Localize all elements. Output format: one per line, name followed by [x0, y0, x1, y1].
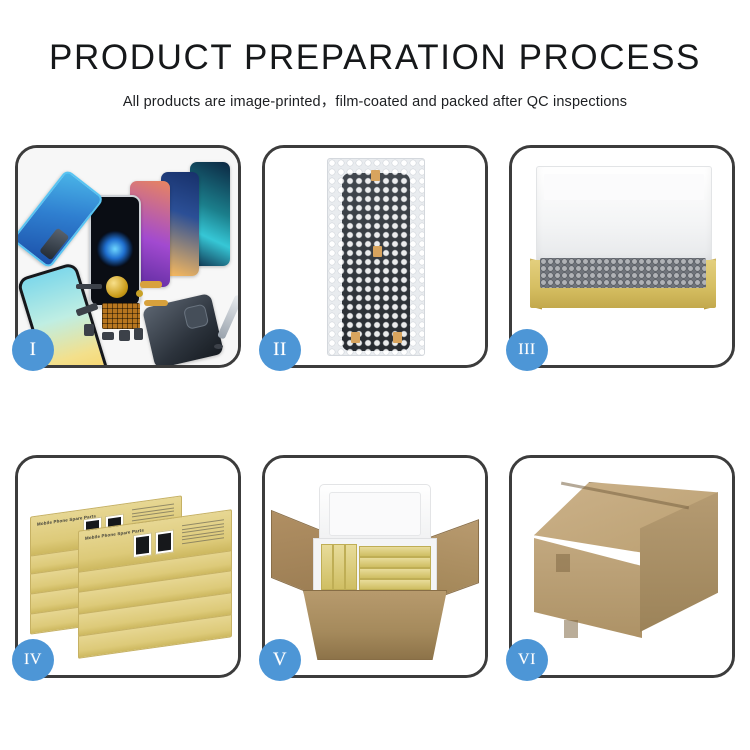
boxed-part-4: [359, 546, 431, 557]
step-1-image: [18, 148, 238, 365]
process-grid: I II III: [0, 145, 750, 678]
carton-tape-tab-bottom: [564, 620, 578, 638]
box-window-right-2: [155, 529, 174, 555]
screw-component: [136, 290, 143, 297]
earpiece-component: [76, 284, 102, 289]
step-badge-4: IV: [12, 639, 54, 681]
step-badge-6: VI: [506, 639, 548, 681]
box-stack: Mobile Phone Spare Parts Mobile Phone Sp…: [24, 472, 234, 666]
page-title: PRODUCT PREPARATION PROCESS: [0, 38, 750, 78]
step-badge-1: I: [12, 329, 54, 371]
boxed-part-6: [359, 568, 431, 579]
page-header: PRODUCT PREPARATION PROCESS All products…: [0, 0, 750, 111]
page-subtitle: All products are image-printed，film-coat…: [0, 90, 750, 111]
process-step-card-1[interactable]: I: [15, 145, 241, 368]
process-step-card-4[interactable]: Mobile Phone Spare Parts Mobile Phone Sp…: [15, 455, 241, 678]
boxed-part-1: [321, 544, 333, 590]
box-spec-lines-right: [182, 519, 224, 551]
carton-front-panel: [303, 590, 447, 660]
logic-board-component: [102, 303, 140, 329]
tape-strip-3: [351, 332, 360, 343]
process-step-card-5[interactable]: V: [262, 455, 488, 678]
step-badge-3: III: [506, 329, 548, 371]
bubble-wrapped-screen: [327, 158, 425, 356]
step-3-image: [512, 148, 732, 365]
boxed-part-2: [333, 544, 345, 590]
small-chip-3: [119, 330, 130, 341]
tape-strip-4: [393, 332, 402, 343]
flex-cable-component-2: [144, 300, 168, 306]
carton-tape-tab-top: [556, 554, 570, 572]
speaker-component: [106, 276, 128, 298]
foam-lid: [536, 166, 712, 264]
tape-strip-1: [371, 170, 380, 181]
flex-cable-component: [140, 281, 162, 288]
repair-tool: [217, 294, 238, 339]
boxed-part-3: [345, 544, 357, 590]
step-5-image: [265, 458, 485, 675]
step-badge-5: V: [259, 639, 301, 681]
process-step-card-2[interactable]: II: [262, 145, 488, 368]
step-2-image: [265, 148, 485, 365]
carton-left-face: [534, 538, 642, 638]
boxed-part-7: [359, 579, 431, 590]
bubble-padding: [540, 258, 706, 288]
small-chip-1: [84, 324, 94, 336]
step-4-image: Mobile Phone Spare Parts Mobile Phone Sp…: [18, 458, 238, 675]
small-chip-2: [102, 332, 114, 340]
step-6-image: [512, 458, 732, 675]
box-window-right-1: [133, 532, 152, 558]
process-row-2: Mobile Phone Spare Parts Mobile Phone Sp…: [0, 455, 750, 678]
process-step-card-6[interactable]: VI: [509, 455, 735, 678]
styrofoam-lid: [319, 484, 431, 544]
boxed-part-5: [359, 557, 431, 568]
process-row-1: I II III: [0, 145, 750, 368]
process-step-card-3[interactable]: III: [509, 145, 735, 368]
screw-component-2: [214, 344, 223, 349]
tape-strip-2: [373, 246, 382, 257]
small-chip-4: [134, 328, 143, 340]
step-badge-2: II: [259, 329, 301, 371]
